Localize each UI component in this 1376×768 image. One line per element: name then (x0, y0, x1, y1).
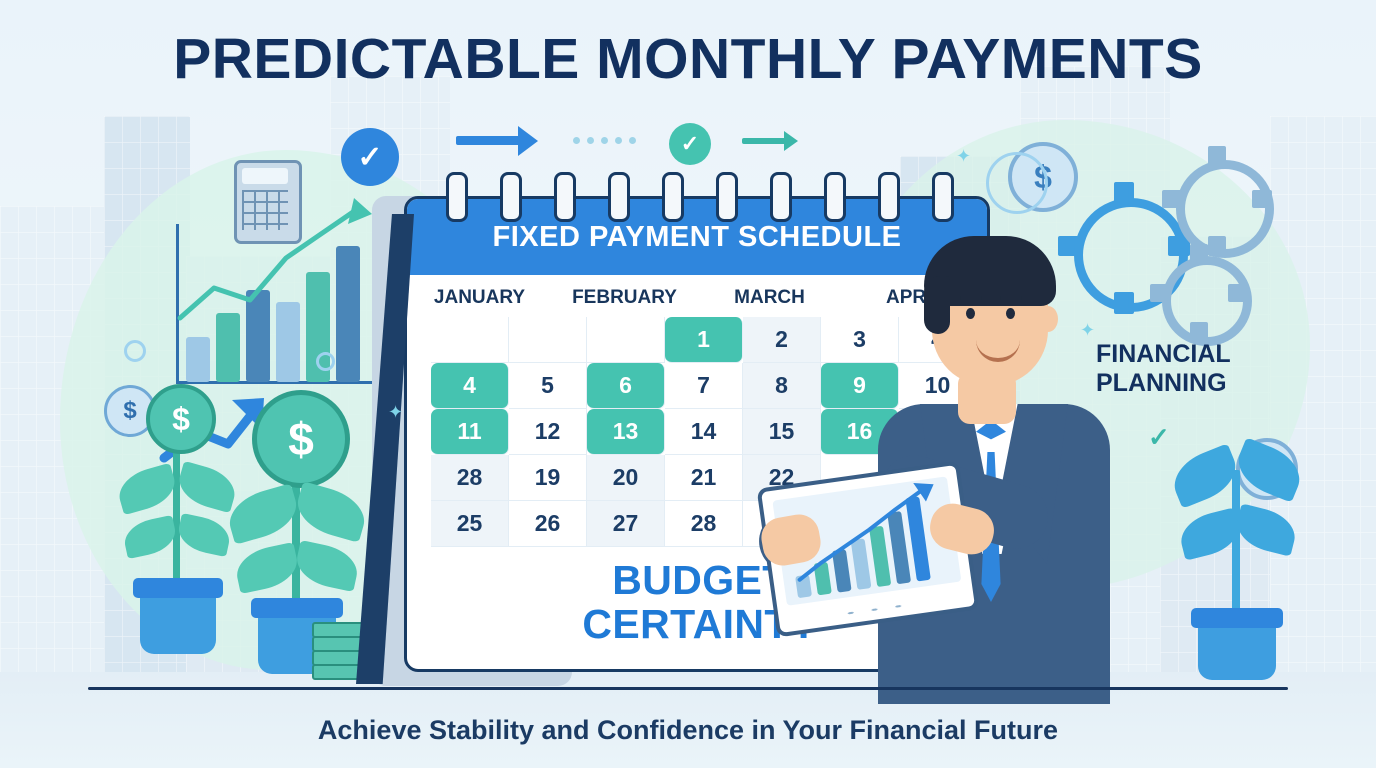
calendar-cell[interactable]: 12 (509, 409, 587, 455)
sparkle-icon: ✦ (388, 402, 403, 423)
person-hair-side (924, 276, 950, 334)
gear-tooth (1150, 284, 1168, 302)
plant-pot-rim (251, 598, 343, 618)
calendar-cell[interactable] (587, 317, 665, 363)
calendar-cell[interactable]: 3 (821, 317, 899, 363)
dollar-glyph: $ (172, 401, 190, 438)
arrow-bar (456, 136, 524, 145)
financial-planning-line-2: PLANNING (1096, 369, 1231, 398)
calculator-screen (242, 168, 288, 184)
dollar-glyph: $ (123, 397, 136, 425)
sparkle-icon: ✦ (1080, 320, 1095, 341)
calendar-binding (500, 172, 522, 222)
calendar-cell[interactable]: 28 (665, 501, 743, 547)
calendar-month: FEBRUARY (552, 287, 697, 309)
calendar-cell-highlighted[interactable]: 9 (821, 363, 899, 409)
coin-flower-icon: $ (146, 384, 216, 454)
tablet-home-dots (838, 601, 908, 619)
chart-bar (186, 337, 210, 382)
sparkle-icon: ✦ (956, 146, 971, 167)
calendar-binding (878, 172, 900, 222)
calendar-cell[interactable] (509, 317, 587, 363)
gear-tooth (1190, 322, 1208, 340)
check-mark-icon: ✓ (1148, 422, 1170, 453)
calendar-header-label: FIXED PAYMENT SCHEDULE (493, 221, 902, 254)
dollar-glyph: $ (288, 412, 314, 466)
calendar-month: JANUARY (407, 287, 552, 309)
calendar-binding (824, 172, 846, 222)
arrow-head-icon (518, 126, 538, 156)
divider-line (88, 687, 1288, 690)
calendar-binding (608, 172, 630, 222)
calendar-cell[interactable]: 25 (431, 501, 509, 547)
calendar-cell[interactable]: 27 (587, 501, 665, 547)
person-eye (966, 308, 975, 319)
calendar-binding (770, 172, 792, 222)
person-eyebrow (960, 296, 982, 300)
check-glyph: ✓ (681, 131, 699, 157)
calendar-cell-highlighted[interactable]: 6 (587, 363, 665, 409)
plant-stem (173, 440, 180, 590)
arrow-head-icon (784, 131, 798, 151)
check-circle-icon-large: ✓ (341, 128, 399, 186)
plant-pot-rim (133, 578, 223, 598)
calendar-binding (932, 172, 954, 222)
gear-tooth (1190, 244, 1208, 262)
gear-tooth (1228, 284, 1246, 302)
calendar-cell[interactable]: 7 (665, 363, 743, 409)
gear-tooth (1114, 292, 1134, 314)
financial-planning-line-1: FINANCIAL (1096, 340, 1231, 369)
decorative-ring (316, 352, 335, 371)
person-eyebrow (1000, 296, 1022, 300)
gear-tooth (1162, 190, 1182, 208)
calendar-cell-highlighted[interactable]: 1 (665, 317, 743, 363)
dotted-connector (573, 137, 636, 144)
calendar-header: FIXED PAYMENT SCHEDULE (407, 199, 987, 275)
calendar-cell[interactable]: 21 (665, 455, 743, 501)
calendar-cell-highlighted[interactable]: 13 (587, 409, 665, 455)
calendar-cell-highlighted[interactable]: 11 (431, 409, 509, 455)
calendar-cell[interactable]: 28 (431, 455, 509, 501)
coin-flower-icon: $ (252, 390, 350, 488)
calendar-binding (554, 172, 576, 222)
calendar-cell-highlighted[interactable]: 4 (431, 363, 509, 409)
coin-ring-icon (986, 152, 1048, 214)
gear-tooth (1252, 190, 1272, 208)
calendar-binding (716, 172, 738, 222)
person-ear (1038, 306, 1058, 332)
person-eye (1006, 308, 1015, 319)
page-title: PREDICTABLE MONTHLY PAYMENTS (0, 26, 1376, 92)
poster: PREDICTABLE MONTHLY PAYMENTS ✓ ✓ $ $ (0, 0, 1376, 768)
gear-tooth (1058, 236, 1080, 256)
calendar-binding (662, 172, 684, 222)
calendar-cell[interactable] (431, 317, 509, 363)
gear-tooth (1208, 146, 1226, 166)
calendar-cell[interactable]: 8 (743, 363, 821, 409)
calendar-cell[interactable]: 26 (509, 501, 587, 547)
plant-pot-rim (1191, 608, 1283, 628)
arrow-bar (742, 138, 790, 144)
page-subtitle: Achieve Stability and Confidence in Your… (0, 715, 1376, 746)
calendar-month: MARCH (697, 287, 842, 309)
calendar-cell[interactable]: 19 (509, 455, 587, 501)
calendar-cell[interactable]: 2 (743, 317, 821, 363)
calendar-cell[interactable]: 15 (743, 409, 821, 455)
check-circle-icon-small: ✓ (669, 123, 711, 165)
gear-tooth (1208, 236, 1226, 256)
calendar-cell[interactable]: 20 (587, 455, 665, 501)
calendar-month-row: JANUARY FEBRUARY MARCH APRIL (407, 287, 987, 309)
calendar-binding (446, 172, 468, 222)
chart-trend-line (168, 196, 388, 336)
plant-stem (1232, 470, 1240, 620)
financial-planning-label: FINANCIAL PLANNING (1096, 340, 1231, 398)
decorative-ring (124, 340, 146, 362)
gear-tooth (1114, 182, 1134, 204)
check-glyph: ✓ (357, 140, 382, 175)
calendar-cell[interactable]: 5 (509, 363, 587, 409)
calendar-cell[interactable]: 14 (665, 409, 743, 455)
